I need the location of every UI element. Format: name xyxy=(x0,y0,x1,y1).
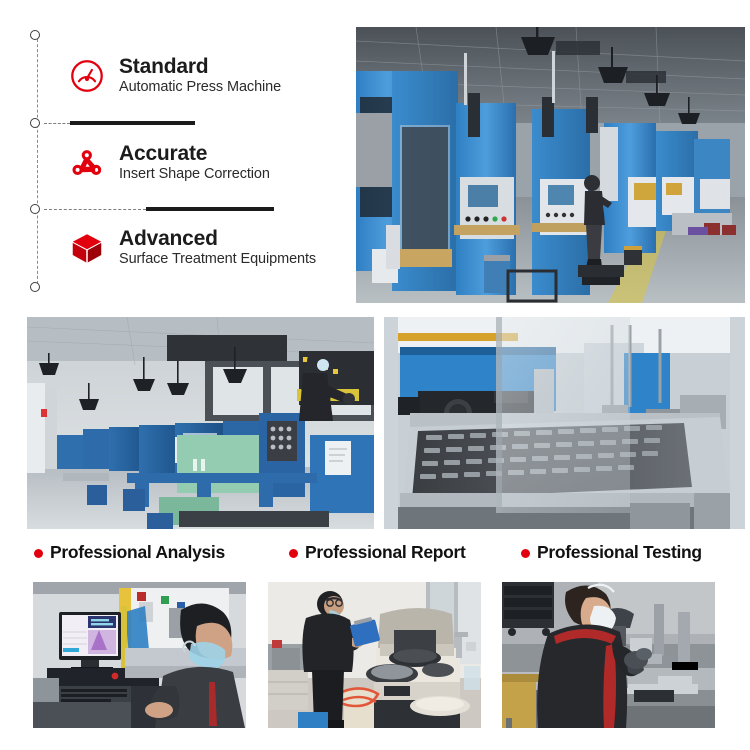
photo-report-polishing-station xyxy=(268,582,481,728)
timeline-node-icon xyxy=(30,204,40,214)
feature-title: Standard xyxy=(119,56,281,79)
photo-production-line-machines xyxy=(27,317,374,529)
feature-subtitle: Insert Shape Correction xyxy=(119,167,270,183)
photo-parts-tray-inspection-machine xyxy=(384,317,745,529)
photo-testing-microscope-bench xyxy=(502,582,715,728)
product-capability-banner: Standard Automatic Press Machine xyxy=(0,0,750,750)
gauge-icon xyxy=(67,56,107,96)
separator-dashed-segment xyxy=(44,123,70,124)
separator-solid-segment xyxy=(146,207,274,211)
feature-text-block: Accurate Insert Shape Correction xyxy=(119,143,270,183)
linkage-icon xyxy=(67,143,107,183)
timeline-dashed-axis xyxy=(37,34,38,289)
label-professional-report: Professional Report xyxy=(289,542,466,563)
cube-icon xyxy=(67,228,107,268)
separator-dashed-segment xyxy=(44,209,146,210)
separator-solid-segment xyxy=(70,121,195,125)
label-professional-analysis: Professional Analysis xyxy=(34,542,225,563)
label-text: Professional Analysis xyxy=(50,542,225,563)
feature-title: Advanced xyxy=(119,228,316,251)
feature-item-accurate: Accurate Insert Shape Correction xyxy=(67,143,270,183)
feature-timeline: Standard Automatic Press Machine xyxy=(26,26,346,298)
feature-text-block: Advanced Surface Treatment Equipments xyxy=(119,228,316,268)
section-labels: Professional Analysis Professional Repor… xyxy=(0,542,750,576)
photo-factory-press-machine-hall xyxy=(356,27,745,303)
feature-subtitle: Surface Treatment Equipments xyxy=(119,252,316,268)
timeline-node-icon xyxy=(30,30,40,40)
feature-text-block: Standard Automatic Press Machine xyxy=(119,56,281,96)
bullet-dot-icon xyxy=(521,549,530,558)
bullet-dot-icon xyxy=(289,549,298,558)
top-section: Standard Automatic Press Machine xyxy=(0,0,750,308)
feature-separator xyxy=(44,204,294,214)
label-text: Professional Report xyxy=(305,542,466,563)
feature-separator xyxy=(44,118,249,128)
photo-analysis-workstation xyxy=(33,582,246,728)
timeline-node-icon xyxy=(30,118,40,128)
feature-item-standard: Standard Automatic Press Machine xyxy=(67,56,281,96)
label-professional-testing: Professional Testing xyxy=(521,542,702,563)
bullet-dot-icon xyxy=(34,549,43,558)
label-text: Professional Testing xyxy=(537,542,702,563)
feature-title: Accurate xyxy=(119,143,270,166)
feature-item-advanced: Advanced Surface Treatment Equipments xyxy=(67,228,316,268)
feature-subtitle: Automatic Press Machine xyxy=(119,80,281,96)
timeline-node-icon xyxy=(30,282,40,292)
